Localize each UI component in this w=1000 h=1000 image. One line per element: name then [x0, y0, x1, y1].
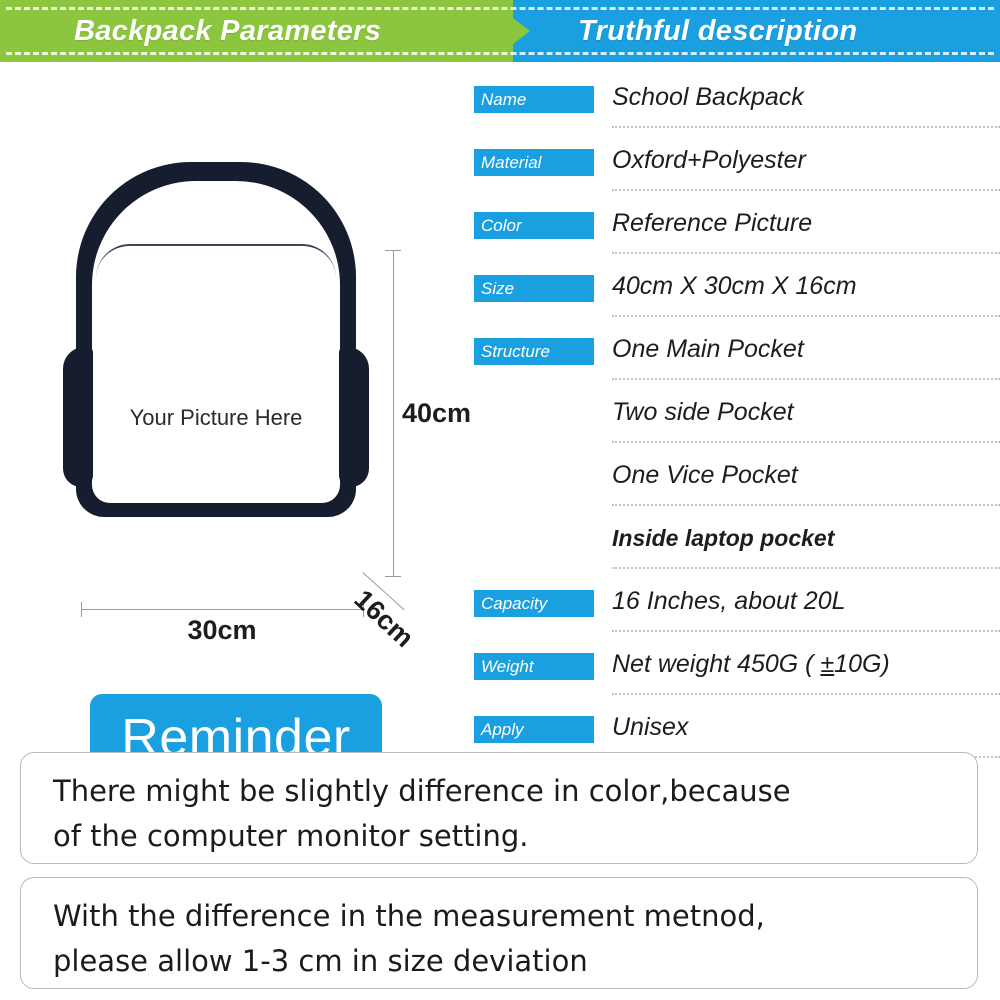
spec-row: Size40cm X 30cm X 16cm — [472, 261, 1000, 324]
spec-label-material: Material — [474, 149, 594, 176]
backpack-illustration — [76, 162, 356, 517]
spec-value: Oxford+Polyester — [612, 139, 1000, 191]
header-title-left: Backpack Parameters — [74, 15, 381, 48]
spec-label-apply: Apply — [474, 716, 594, 743]
dimension-cap-height-bottom — [385, 576, 401, 577]
header-banner: Backpack Parameters Truthful description — [0, 0, 1000, 62]
spec-label-name: Name — [474, 86, 594, 113]
spec-row: ColorReference Picture — [472, 198, 1000, 261]
spec-row: WeightNet weight 450G ( ±10G) — [472, 639, 1000, 702]
spec-row: One Vice Pocket — [472, 450, 1000, 513]
note-box-color-disclaimer: There might be slightly difference in co… — [20, 752, 978, 864]
spec-value: Two side Pocket — [612, 391, 1000, 443]
banner-dashed-line-top — [6, 7, 994, 10]
spec-label-empty — [474, 401, 594, 428]
print-area-caption: Your Picture Here — [80, 405, 352, 431]
note-2-line-1: With the difference in the measurement m… — [53, 894, 955, 939]
spec-value: Inside laptop pocket — [612, 517, 1000, 569]
spec-label-weight: Weight — [474, 653, 594, 680]
spec-value: One Main Pocket — [612, 328, 1000, 380]
spec-row: Two side Pocket — [472, 387, 1000, 450]
spec-value: 16 Inches, about 20L — [612, 580, 1000, 632]
spec-row: StructureOne Main Pocket — [472, 324, 1000, 387]
spec-label-size: Size — [474, 275, 594, 302]
dimension-label-width: 30cm — [81, 615, 363, 646]
dimension-line-height — [393, 250, 394, 576]
banner-dashed-line-bottom — [6, 52, 994, 55]
spec-row: Inside laptop pocket — [472, 513, 1000, 576]
note-1-line-1: There might be slightly difference in co… — [53, 769, 955, 814]
note-1-line-2: of the computer monitor setting. — [53, 814, 955, 859]
spec-label-empty — [474, 464, 594, 491]
dimension-cap-height-top — [385, 250, 401, 251]
spec-label-empty — [474, 527, 594, 554]
print-area — [92, 181, 340, 503]
note-box-measurement-disclaimer: With the difference in the measurement m… — [20, 877, 978, 989]
spec-value: School Backpack — [612, 76, 1000, 128]
spec-table: NameSchool BackpackMaterialOxford+Polyes… — [472, 72, 1000, 765]
note-2-line-2: please allow 1-3 cm in size deviation — [53, 939, 955, 984]
spec-row: Capacity16 Inches, about 20L — [472, 576, 1000, 639]
spec-label-capacity: Capacity — [474, 590, 594, 617]
header-title-right: Truthful description — [578, 15, 857, 48]
backpack-rim-stitch — [96, 244, 336, 278]
plus-minus-symbol: ± — [820, 650, 834, 678]
spec-value: 40cm X 30cm X 16cm — [612, 265, 1000, 317]
spec-value: Reference Picture — [612, 202, 1000, 254]
dimension-line-width — [81, 609, 363, 610]
dimension-label-height: 40cm — [402, 398, 471, 429]
spec-value: One Vice Pocket — [612, 454, 1000, 506]
spec-label-color: Color — [474, 212, 594, 239]
spec-row: MaterialOxford+Polyester — [472, 135, 1000, 198]
spec-value: Unisex — [612, 706, 1000, 758]
spec-row: NameSchool Backpack — [472, 72, 1000, 135]
spec-label-structure: Structure — [474, 338, 594, 365]
product-spec-infographic: Backpack Parameters Truthful description… — [0, 0, 1000, 1000]
spec-value: Net weight 450G ( ±10G) — [612, 643, 1000, 695]
product-image-panel: Your Picture Here 40cm 30cm 16cm Reminde… — [18, 72, 468, 582]
